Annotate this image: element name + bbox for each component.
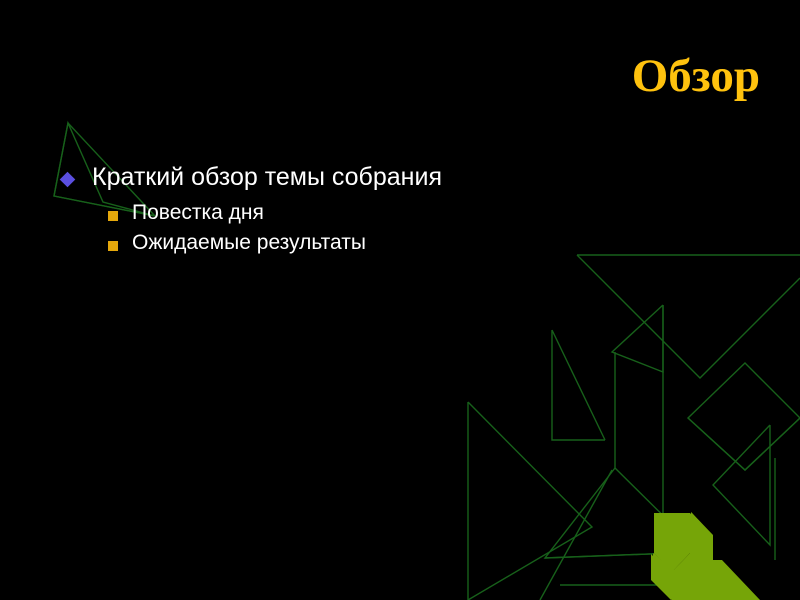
bullet-text: Краткий обзор темы собрания	[92, 163, 442, 193]
slide-title: Обзор	[80, 52, 760, 101]
bullet-item-level2: Повестка дня	[108, 201, 752, 226]
diamond-bullet-icon	[60, 172, 76, 188]
bullet-item-level2: Ожидаемые результаты	[108, 231, 752, 256]
slide-canvas: Обзор Краткий обзор темы собрания Повест…	[0, 0, 800, 600]
square-bullet-icon	[108, 241, 118, 251]
bullet-item-level1: Краткий обзор темы собрания	[62, 163, 752, 193]
bullet-text: Ожидаемые результаты	[132, 231, 366, 256]
slide-body: Краткий обзор темы собрания Повестка дня…	[62, 163, 752, 262]
square-bullet-icon	[108, 211, 118, 221]
bullet-text: Повестка дня	[132, 201, 264, 226]
